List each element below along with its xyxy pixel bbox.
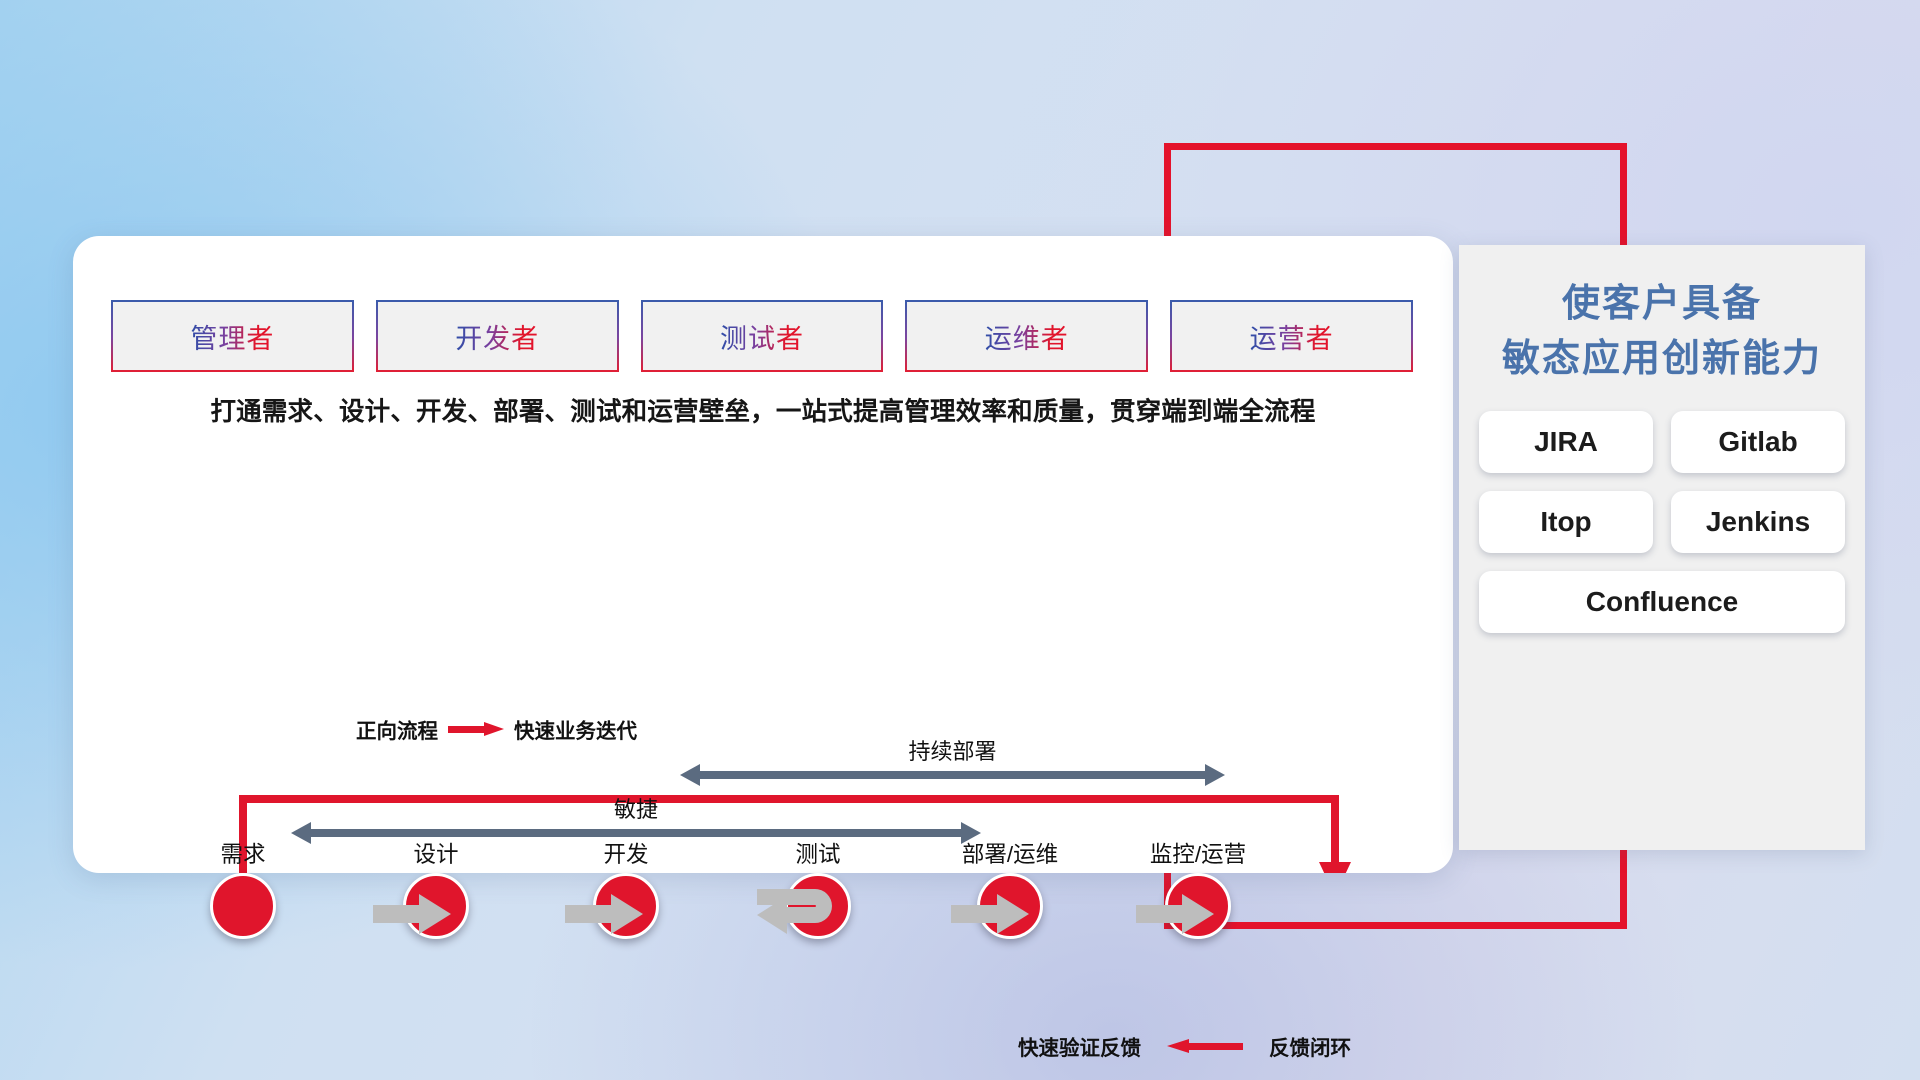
- role-label: 测试者: [720, 317, 804, 356]
- arrow-left-red-icon: [1167, 1039, 1243, 1053]
- tool-chip-confluence[interactable]: Confluence: [1479, 571, 1845, 633]
- tool-chip-list: JIRA Gitlab Itop Jenkins Confluence: [1479, 411, 1845, 633]
- legend-forward-right-label: 快速业务迭代: [514, 714, 637, 744]
- block-arrow-right-icon: [951, 892, 1029, 936]
- span-arrow-label: 敏捷: [291, 792, 981, 824]
- role-box-row: 管理者 开发者 测试者 运维者 运营者: [111, 300, 1413, 372]
- role-label: 运维者: [985, 317, 1069, 356]
- arrow-right-red-icon: [448, 722, 504, 736]
- arrow-head-right-icon: [1205, 764, 1225, 786]
- legend-feedback-loop: 快速验证反馈 反馈闭环: [1018, 1031, 1351, 1061]
- role-box-tester[interactable]: 测试者: [641, 300, 884, 372]
- stage-label: 部署/运维: [945, 844, 1075, 867]
- span-arrow-label: 持续部署: [680, 734, 1225, 766]
- legend-forward-left-label: 正向流程: [356, 714, 438, 744]
- span-arrow-line: [309, 829, 963, 837]
- stage-label: 监控/运营: [1133, 844, 1263, 867]
- slide-canvas: 管理者 开发者 测试者 运维者 运营者 打通需求、设计、开发、部署、测试和运营壁…: [0, 0, 1920, 1080]
- loop-cycle-arrow-icon: [753, 880, 863, 948]
- legend-feedback-left-label: 快速验证反馈: [1018, 1031, 1141, 1061]
- role-label: 运营者: [1250, 317, 1334, 356]
- main-flow-card: 管理者 开发者 测试者 运维者 运营者 打通需求、设计、开发、部署、测试和运营壁…: [73, 236, 1453, 873]
- role-label: 开发者: [455, 317, 539, 356]
- panel-title-line-1: 使客户具备: [1459, 277, 1865, 332]
- tool-chip-jenkins[interactable]: Jenkins: [1671, 491, 1845, 553]
- stage-dot: [210, 873, 276, 939]
- span-arrow-line: [698, 771, 1207, 779]
- stage-label: 测试: [753, 844, 883, 867]
- stage-rail: 需求 设计 开发 测试: [133, 844, 1395, 964]
- role-box-ops[interactable]: 运维者: [905, 300, 1148, 372]
- subtitle-text: 打通需求、设计、开发、部署、测试和运营壁垒，一站式提高管理效率和质量，贯穿端到端…: [73, 391, 1453, 428]
- arrow-head-left-icon: [291, 822, 311, 844]
- arrow-head-left-icon: [680, 764, 700, 786]
- role-box-operations[interactable]: 运营者: [1170, 300, 1413, 372]
- span-arrow-agile: 敏捷: [291, 824, 981, 842]
- block-arrow-right-icon: [565, 892, 643, 936]
- legend-forward-flow: 正向流程 快速业务迭代: [356, 714, 637, 744]
- role-box-manager[interactable]: 管理者: [111, 300, 354, 372]
- stage-label: 开发: [561, 844, 691, 867]
- span-arrow-continuous-deployment: 持续部署: [680, 766, 1225, 784]
- role-label: 管理者: [190, 317, 274, 356]
- block-arrow-right-icon: [1136, 892, 1214, 936]
- role-box-developer[interactable]: 开发者: [376, 300, 619, 372]
- stage-label: 设计: [371, 844, 501, 867]
- toolchain-panel-title: 使客户具备 敏态应用创新能力: [1459, 245, 1865, 387]
- tool-chip-gitlab[interactable]: Gitlab: [1671, 411, 1845, 473]
- legend-feedback-right-label: 反馈闭环: [1269, 1031, 1351, 1061]
- toolchain-panel: 使客户具备 敏态应用创新能力 JIRA Gitlab Itop Jenkins …: [1459, 245, 1865, 850]
- stage-requirement[interactable]: 需求: [178, 844, 308, 939]
- stage-label: 需求: [178, 844, 308, 867]
- block-arrow-right-icon: [373, 892, 451, 936]
- tool-chip-itop[interactable]: Itop: [1479, 491, 1653, 553]
- tool-chip-jira[interactable]: JIRA: [1479, 411, 1653, 473]
- arrow-head-right-icon: [961, 822, 981, 844]
- panel-title-line-2: 敏态应用创新能力: [1459, 332, 1865, 387]
